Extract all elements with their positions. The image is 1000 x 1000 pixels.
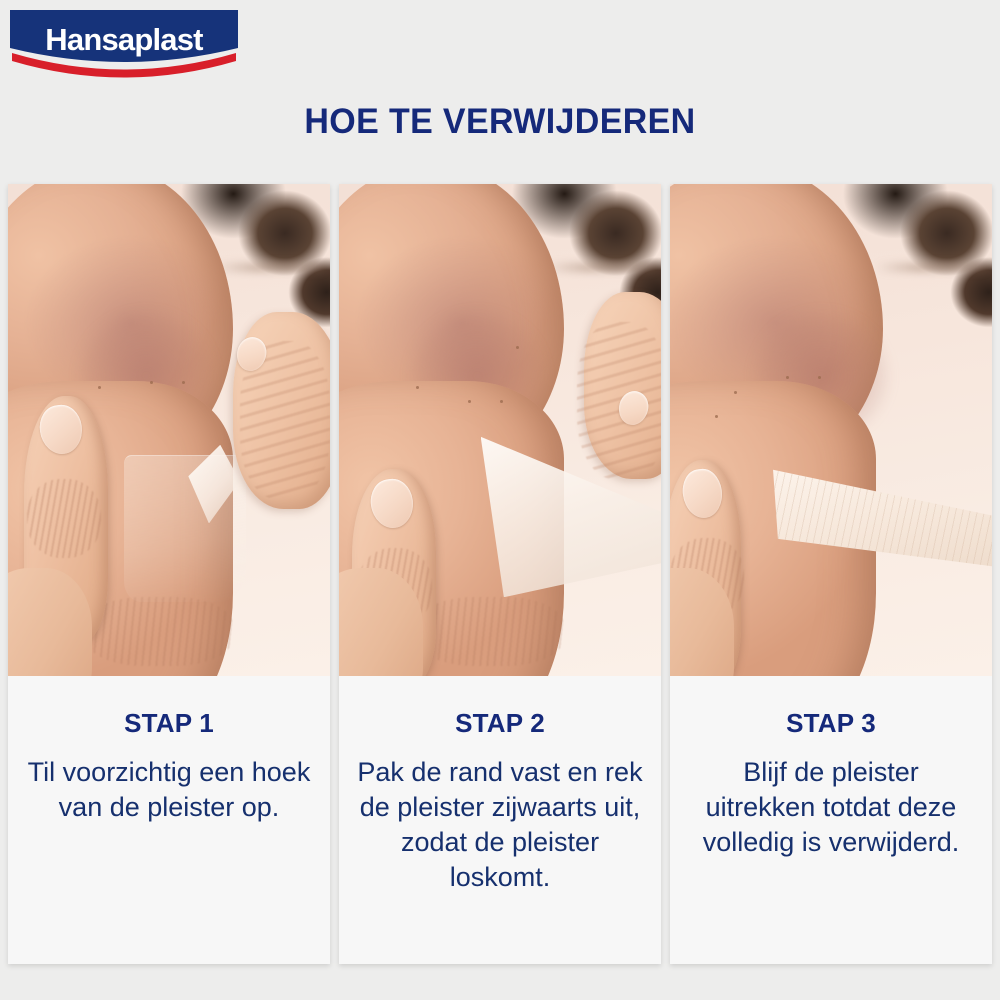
step-3-photo xyxy=(670,184,992,676)
skin-mole xyxy=(150,381,153,384)
step-card-1: STAP 1 Til voorzichtig een hoek van de p… xyxy=(8,184,330,964)
skin-mole xyxy=(182,381,185,384)
step-1-caption: STAP 1 Til voorzichtig een hoek van de p… xyxy=(8,676,330,964)
step-1-body: Til voorzichtig een hoek van de pleister… xyxy=(24,755,314,825)
step-2-caption: STAP 2 Pak de rand vast en rek de pleist… xyxy=(339,676,661,964)
logo-shield-icon xyxy=(8,8,240,80)
step-1-photo xyxy=(8,184,330,676)
skin-fold-shape xyxy=(416,597,564,666)
step-3-body: Blijf de pleister uitrekken totdat deze … xyxy=(686,755,976,860)
step-2-title: STAP 2 xyxy=(355,708,645,739)
step-2-photo xyxy=(339,184,661,676)
skin-mole xyxy=(98,386,101,389)
step-card-2: STAP 2 Pak de rand vast en rek de pleist… xyxy=(339,184,661,964)
photo-background-rod xyxy=(876,263,985,272)
skin-mole xyxy=(786,376,789,379)
skin-fold-shape xyxy=(85,597,233,666)
photo-background-rod xyxy=(214,263,323,272)
stretching-hand-fingers xyxy=(577,322,661,479)
step-2-body: Pak de rand vast en rek de pleister zijw… xyxy=(355,755,645,895)
skin-mole xyxy=(818,376,821,379)
step-1-title: STAP 1 xyxy=(24,708,314,739)
page-title: HOE TE VERWIJDEREN xyxy=(15,102,985,142)
step-card-3: STAP 3 Blijf de pleister uitrekken totda… xyxy=(670,184,992,964)
photo-background-rod xyxy=(545,263,654,272)
brand-logo: Hansaplast xyxy=(8,8,240,80)
thumb-knuckle-lines xyxy=(27,479,101,558)
step-3-caption: STAP 3 Blijf de pleister uitrekken totda… xyxy=(670,676,992,964)
step-3-title: STAP 3 xyxy=(686,708,976,739)
steps-container: STAP 1 Til voorzichtig een hoek van de p… xyxy=(8,184,992,964)
